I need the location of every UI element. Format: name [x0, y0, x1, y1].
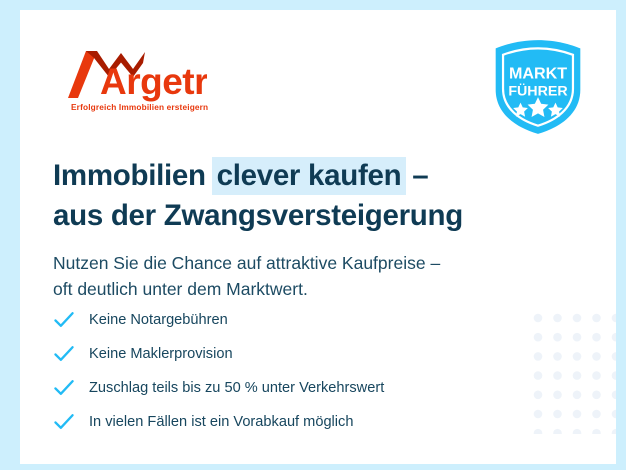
argetra-logo[interactable]: Argetra Erfolgreich Immobilien ersteiger…: [57, 46, 217, 124]
list-item: Keine Maklerprovision: [53, 339, 483, 369]
headline-highlight: clever kaufen: [212, 157, 407, 195]
headline-line2: aus der Zwangsversteigerung: [53, 198, 573, 235]
content-card: Argetra Erfolgreich Immobilien ersteiger…: [20, 10, 616, 464]
badge-line1-text: MARKT: [509, 65, 567, 83]
list-item: In vielen Fällen ist ein Vorabkauf mögli…: [53, 407, 483, 437]
list-item-label: Zuschlag teils bis zu 50 % unter Verkehr…: [89, 380, 384, 396]
list-item: Keine Notargebühren: [53, 305, 483, 335]
list-item-label: In vielen Fällen ist ein Vorabkauf mögli…: [89, 414, 353, 430]
headline-part1: Immobilien: [53, 159, 214, 192]
market-leader-badge: MARKT FÜHRER: [492, 38, 584, 136]
argetra-roof-a-logo-icon: Argetra: [57, 46, 207, 102]
svg-text:Argetra: Argetra: [100, 61, 207, 102]
promo-banner: Argetra Erfolgreich Immobilien ersteiger…: [0, 0, 626, 470]
check-icon: [53, 413, 75, 431]
page-subheadline: Nutzen Sie die Chance auf attraktive Kau…: [53, 250, 553, 303]
check-icon: [53, 345, 75, 363]
subheadline-line1: Nutzen Sie die Chance auf attraktive Kau…: [53, 253, 440, 273]
shield-badge-icon: MARKT FÜHRER: [492, 38, 584, 136]
logo-tagline: Erfolgreich Immobilien ersteigern: [71, 102, 208, 112]
benefits-list: Keine Notargebühren Keine Maklerprovisio…: [53, 305, 483, 441]
dot-grid-decoration: [532, 312, 616, 434]
list-item-label: Keine Maklerprovision: [89, 346, 233, 362]
page-headline: Immobilien clever kaufen – aus der Zwang…: [53, 158, 573, 235]
list-item-label: Keine Notargebühren: [89, 312, 228, 328]
badge-line2-text: FÜHRER: [508, 82, 567, 99]
check-icon: [53, 379, 75, 397]
list-item: Zuschlag teils bis zu 50 % unter Verkehr…: [53, 373, 483, 403]
subheadline-line2: oft deutlich unter dem Marktwert.: [53, 279, 308, 299]
headline-part2: –: [404, 159, 428, 192]
check-icon: [53, 311, 75, 329]
